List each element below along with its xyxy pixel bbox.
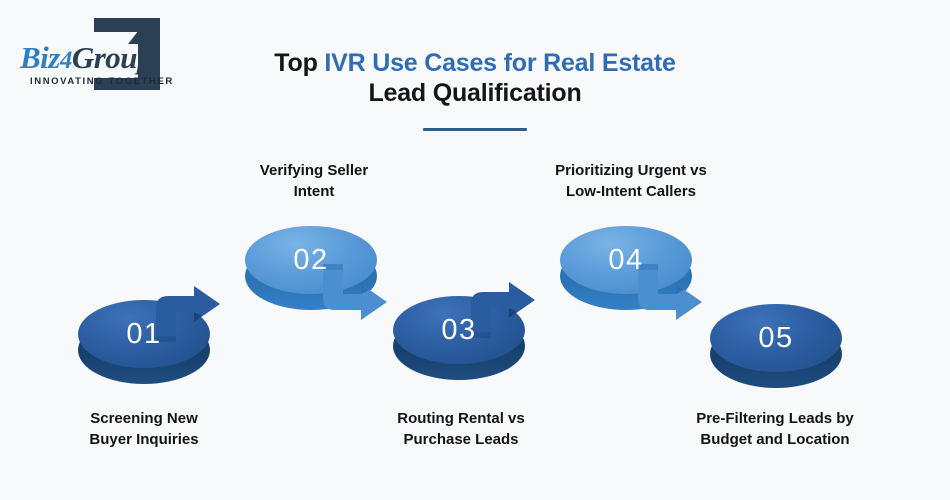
page-title-plain: Top bbox=[274, 49, 324, 77]
step-caption-02-line-2: Intent bbox=[184, 181, 444, 202]
step-caption-03: Routing Rental vs Purchase Leads bbox=[331, 408, 591, 450]
step-caption-05-line-1: Pre-Filtering Leads by bbox=[645, 408, 905, 429]
step-number-02: 02 bbox=[245, 226, 377, 294]
step-node-02[interactable]: 02 bbox=[245, 212, 405, 324]
step-disc-05: 05 bbox=[710, 304, 842, 388]
step-number-05: 05 bbox=[710, 304, 842, 372]
step-caption-03-line-1: Routing Rental vs bbox=[331, 408, 591, 429]
brand-wordmark: Biz4Group bbox=[20, 40, 152, 76]
step-caption-01-line-2: Buyer Inquiries bbox=[14, 429, 274, 450]
step-node-03[interactable]: 03 bbox=[393, 282, 553, 394]
step-node-04[interactable]: 04 bbox=[560, 212, 720, 324]
step-node-01[interactable]: 01 bbox=[78, 286, 238, 398]
step-node-05[interactable]: 05 bbox=[710, 290, 870, 402]
step-number-03: 03 bbox=[393, 296, 525, 364]
brand-name-digit: 4 bbox=[60, 47, 72, 74]
step-number-04: 04 bbox=[560, 226, 692, 294]
step-caption-04: Prioritizing Urgent vs Low-Intent Caller… bbox=[501, 160, 761, 202]
step-disc-01: 01 bbox=[78, 300, 210, 384]
step-caption-01: Screening New Buyer Inquiries bbox=[14, 408, 274, 450]
title-underline-rule bbox=[423, 128, 527, 131]
step-disc-03: 03 bbox=[393, 296, 525, 380]
step-caption-05-line-2: Budget and Location bbox=[645, 429, 905, 450]
brand-name-prefix: Biz bbox=[20, 40, 60, 75]
step-caption-04-line-1: Prioritizing Urgent vs bbox=[501, 160, 761, 181]
brand-name-suffix: Group bbox=[72, 40, 152, 75]
step-caption-04-line-2: Low-Intent Callers bbox=[501, 181, 761, 202]
step-caption-02-line-1: Verifying Seller bbox=[184, 160, 444, 181]
brand-tagline: INNOVATING TOGETHER bbox=[30, 76, 174, 87]
step-caption-05: Pre-Filtering Leads by Budget and Locati… bbox=[645, 408, 905, 450]
page-title-accent: IVR Use Cases for Real Estate bbox=[324, 49, 675, 77]
step-caption-02: Verifying Seller Intent bbox=[184, 160, 444, 202]
step-caption-03-line-2: Purchase Leads bbox=[331, 429, 591, 450]
step-caption-01-line-1: Screening New bbox=[14, 408, 274, 429]
step-number-01: 01 bbox=[78, 300, 210, 368]
